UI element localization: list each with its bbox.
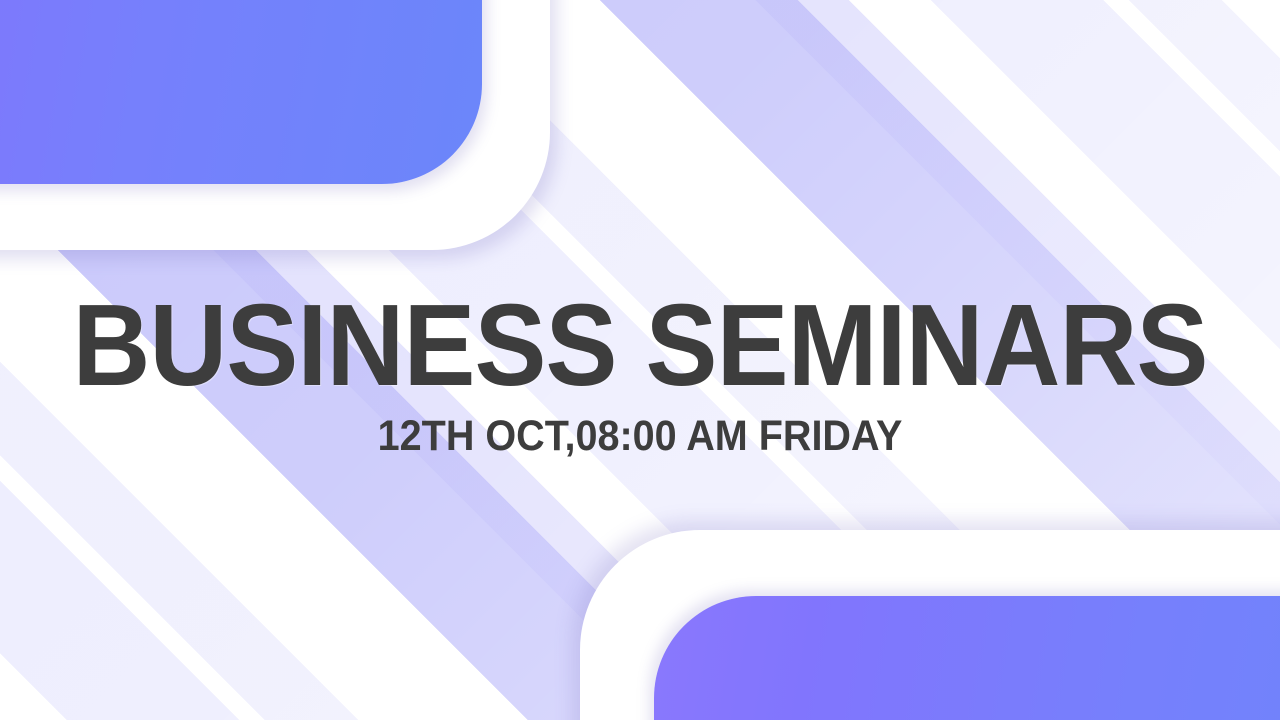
top-left-gradient-plate bbox=[0, 0, 482, 184]
event-poster: BUSINESS SEMINARS 12TH OCT,08:00 AM FRID… bbox=[0, 0, 1280, 720]
bottom-right-gradient-plate bbox=[654, 596, 1280, 720]
